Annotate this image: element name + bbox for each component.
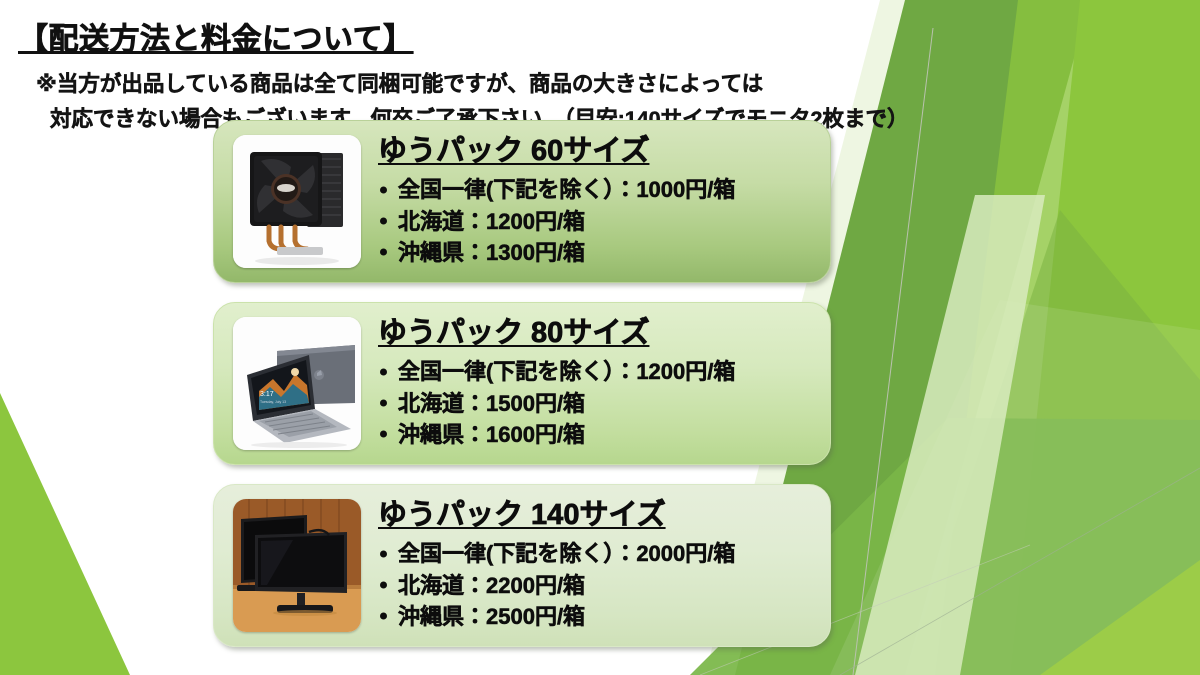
- header-block: 【配送方法と料金について】 ※当方が出品している商品は全て同梱可能ですが、商品の…: [0, 0, 1000, 133]
- price-item-label: 北海道：1500円/箱: [398, 391, 585, 416]
- decor-shape-bottom-left-wedge: [0, 393, 130, 675]
- bullet-dot-icon: [380, 218, 387, 225]
- price-item: 沖縄県：1300円/箱: [378, 237, 822, 268]
- bullet-dot-icon: [380, 400, 387, 407]
- price-item-label: 全国一律(下記を除く）：2000円/箱: [398, 541, 735, 566]
- bullet-dot-icon: [380, 613, 387, 620]
- card-title-60: ゆうパック 60サイズ: [378, 135, 822, 168]
- shipping-card-80[interactable]: 3:17 Tuesday, July 13 ゆうパック 80サイズ 全国一律(下…: [213, 302, 831, 465]
- price-item: 北海道：1200円/箱: [378, 206, 822, 237]
- price-item: 沖縄県：1600円/箱: [378, 419, 822, 450]
- shipping-card-140[interactable]: ゆうパック 140サイズ 全国一律(下記を除く）：2000円/箱 北海道：220…: [213, 484, 831, 647]
- shipping-card-60[interactable]: ゆうパック 60サイズ 全国一律(下記を除く）：1000円/箱 北海道：1200…: [213, 120, 831, 283]
- decor-shape-mid-soft-green: [905, 210, 1200, 675]
- price-item-label: 北海道：2200円/箱: [398, 573, 585, 598]
- price-item-label: 北海道：1200円/箱: [398, 209, 585, 234]
- price-item: 北海道：2200円/箱: [378, 570, 822, 601]
- price-item-label: 沖縄県：1300円/箱: [398, 240, 585, 265]
- price-item: 沖縄県：2500円/箱: [378, 601, 822, 632]
- price-item: 北海道：1500円/箱: [378, 388, 822, 419]
- monitor-photo-icon: [233, 499, 361, 632]
- decor-shape-lower-pale-wash: [830, 300, 1200, 675]
- cpu-cooler-photo-icon: [233, 135, 361, 268]
- price-item: 全国一律(下記を除く）：1200円/箱: [378, 356, 822, 387]
- card-body-80: ゆうパック 80サイズ 全国一律(下記を除く）：1200円/箱 北海道：1500…: [361, 317, 830, 450]
- svg-text:Tuesday, July 13: Tuesday, July 13: [260, 400, 286, 404]
- decor-hairline-diagonal: [840, 468, 1200, 675]
- card-body-60: ゆうパック 60サイズ 全国一律(下記を除く）：1000円/箱 北海道：1200…: [361, 135, 830, 268]
- price-item: 全国一律(下記を除く）：1000円/箱: [378, 174, 822, 205]
- card-thumbnail-60: [233, 135, 361, 268]
- bullet-dot-icon: [380, 431, 387, 438]
- bullet-dot-icon: [380, 186, 387, 193]
- card-price-list-60: 全国一律(下記を除く）：1000円/箱 北海道：1200円/箱 沖縄県：1300…: [378, 174, 822, 268]
- card-title-140: ゆうパック 140サイズ: [378, 499, 822, 532]
- price-item-label: 全国一律(下記を除く）：1200円/箱: [398, 359, 735, 384]
- card-price-list-140: 全国一律(下記を除く）：2000円/箱 北海道：2200円/箱 沖縄県：2500…: [378, 538, 822, 632]
- laptop-photo-icon: 3:17 Tuesday, July 13: [233, 317, 361, 450]
- price-item-label: 全国一律(下記を除く）：1000円/箱: [398, 177, 735, 202]
- svg-text:3:17: 3:17: [260, 391, 274, 398]
- page-title: 【配送方法と料金について】: [0, 0, 1000, 58]
- bullet-dot-icon: [380, 368, 387, 375]
- shipping-note-line-1: ※当方が出品している商品は全て同梱可能ですが、商品の大きさによっては: [0, 58, 1000, 98]
- card-thumbnail-80: 3:17 Tuesday, July 13: [233, 317, 361, 450]
- bullet-dot-icon: [380, 249, 387, 256]
- price-item: 全国一律(下記を除く）：2000円/箱: [378, 538, 822, 569]
- card-body-140: ゆうパック 140サイズ 全国一律(下記を除く）：2000円/箱 北海道：220…: [361, 499, 830, 632]
- price-item-label: 沖縄県：2500円/箱: [398, 604, 585, 629]
- slide-canvas: 【配送方法と料金について】 ※当方が出品している商品は全て同梱可能ですが、商品の…: [0, 0, 1200, 675]
- card-price-list-80: 全国一律(下記を除く）：1200円/箱 北海道：1500円/箱 沖縄県：1600…: [378, 356, 822, 450]
- bullet-dot-icon: [380, 582, 387, 589]
- card-title-80: ゆうパック 80サイズ: [378, 317, 822, 350]
- decor-shape-bright-bottom-right: [1040, 560, 1200, 675]
- decor-shape-pale-sliver-upper: [855, 195, 1045, 675]
- price-item-label: 沖縄県：1600円/箱: [398, 422, 585, 447]
- bullet-dot-icon: [380, 550, 387, 557]
- card-thumbnail-140: [233, 499, 361, 632]
- decor-shape-right-bright-green: [1010, 0, 1200, 675]
